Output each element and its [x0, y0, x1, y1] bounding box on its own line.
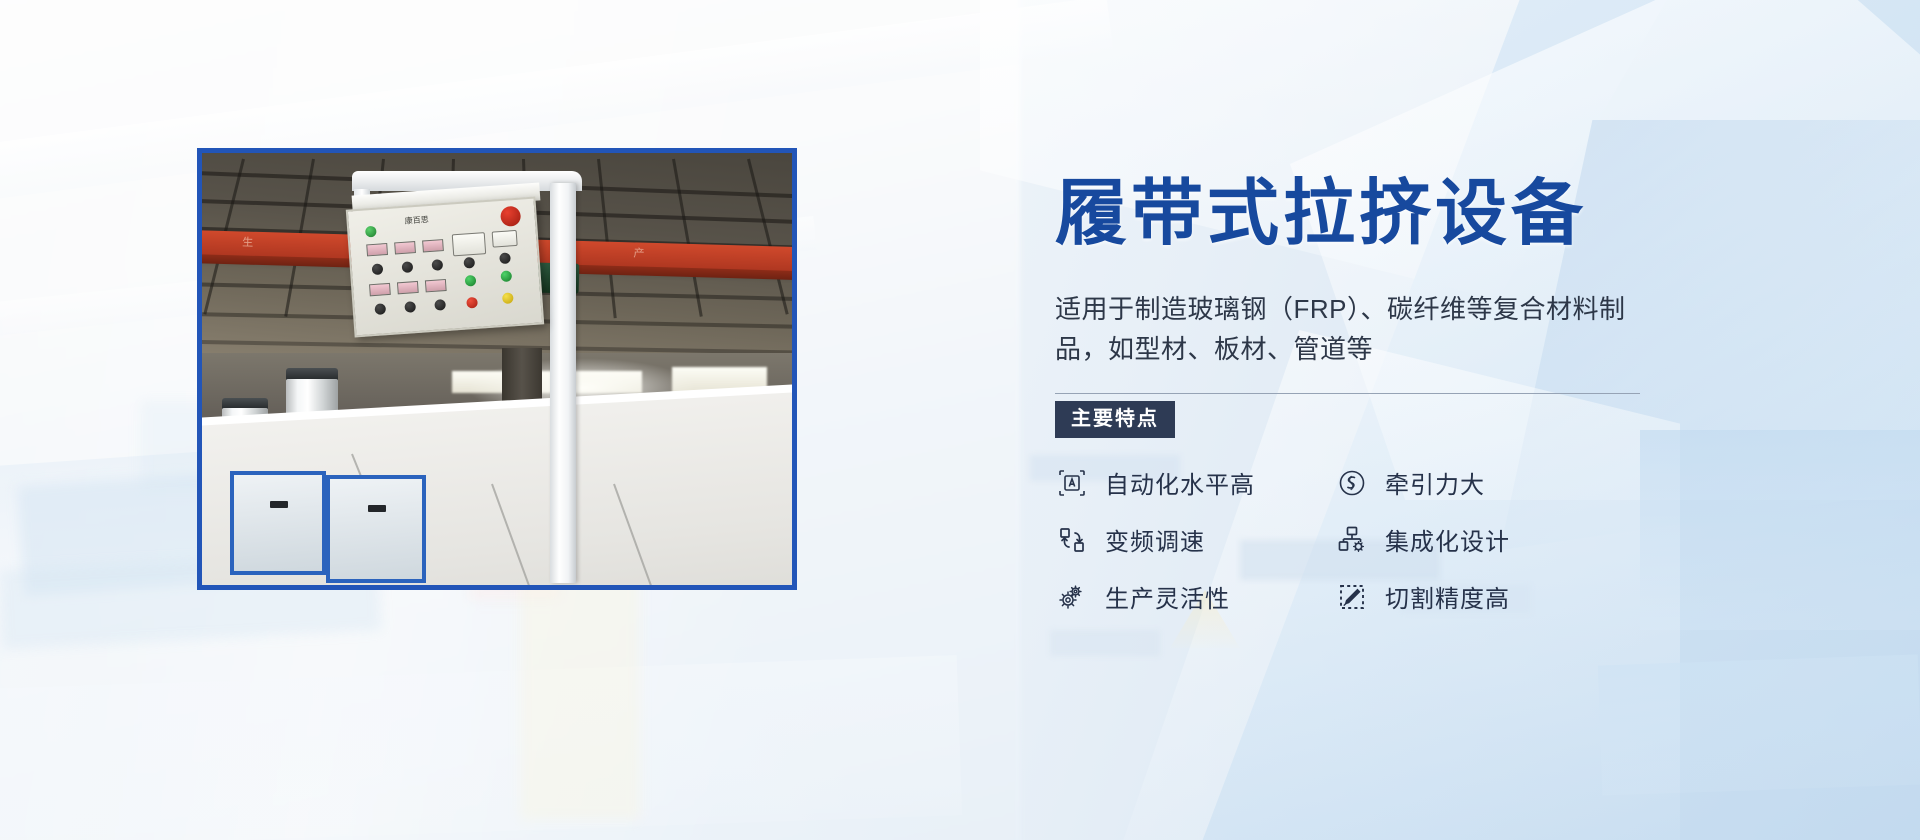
- integrated-design-nodes-icon: [1335, 523, 1369, 557]
- banner-content: 履带式拉挤设备 适用于制造玻璃钢（FRP）、碳纤维等复合材料制品，如型材、板材、…: [1055, 150, 1655, 614]
- photo-digital-meter: [394, 241, 416, 254]
- background-glass-pane-6: [1598, 654, 1920, 795]
- photo-analog-gauge: [452, 232, 486, 256]
- frequency-nodes-icon: [1055, 523, 1089, 557]
- background-smudge-3: [1050, 630, 1160, 656]
- feature-label: 变频调速: [1105, 522, 1205, 557]
- photo-knob: [404, 301, 416, 313]
- feature-item: 自动化水平高: [1055, 465, 1335, 500]
- feature-label: 自动化水平高: [1105, 465, 1255, 500]
- background-glass-pane-5: [1640, 430, 1920, 630]
- traction-waves-circle-icon: [1335, 466, 1369, 500]
- dashed-pencil-precision-icon: [1335, 580, 1369, 614]
- photo-knob: [372, 263, 384, 275]
- photo-knob: [463, 257, 475, 269]
- background-ghost-machine-4: [520, 560, 640, 820]
- photo-digital-meter: [366, 243, 388, 256]
- feature-label: 生产灵活性: [1105, 579, 1230, 614]
- photo-analog-gauge: [492, 230, 518, 248]
- photo-control-panel-brand: 康百思: [404, 212, 459, 228]
- photo-front-cabinet: [230, 471, 326, 575]
- feature-item: 集成化设计: [1335, 522, 1615, 557]
- photo-cabinet-handle: [270, 501, 288, 508]
- feature-list: 自动化水平高 牵引力大: [1055, 465, 1655, 614]
- photo-indicator-lamp: [365, 226, 377, 238]
- page-title: 履带式拉挤设备: [1055, 178, 1655, 250]
- feature-item: 变频调速: [1055, 522, 1335, 557]
- background-beam-4: [0, 655, 962, 840]
- letter-a-in-frame-icon: [1055, 466, 1089, 500]
- photo-gantry-pillar: [550, 183, 576, 583]
- photo-knob: [402, 261, 414, 273]
- photo-digital-meter: [425, 279, 447, 292]
- product-photo-card: 生 产 为 产 辉 煌: [197, 148, 797, 590]
- photo-cabinet-handle: [368, 505, 386, 512]
- product-banner: 生 产 为 产 辉 煌: [0, 0, 1920, 840]
- pultrusion-line-factory-photo: 生 产 为 产 辉 煌: [202, 153, 792, 585]
- photo-digital-meter: [369, 283, 391, 296]
- divider-line: [1055, 393, 1640, 394]
- photo-indicator-lamp: [466, 297, 478, 309]
- photo-knob: [434, 299, 446, 311]
- photo-indicator-lamp: [465, 275, 477, 287]
- photo-knob: [431, 259, 443, 271]
- status-badge: 主要特点: [1055, 401, 1175, 438]
- photo-control-panel: 康百思: [346, 197, 544, 338]
- feature-item: 牵引力大: [1335, 465, 1615, 500]
- feature-label: 牵引力大: [1385, 465, 1485, 500]
- photo-digital-meter: [397, 281, 419, 294]
- photo-knob: [374, 303, 386, 315]
- gears-icon: [1055, 580, 1089, 614]
- features-header: 主要特点: [1055, 393, 1655, 435]
- feature-item: 切割精度高: [1335, 579, 1615, 614]
- feature-item: 生产灵活性: [1055, 579, 1335, 614]
- photo-front-cabinet: [326, 475, 426, 583]
- photo-knob: [499, 252, 511, 264]
- feature-label: 集成化设计: [1385, 522, 1510, 557]
- photo-digital-meter: [422, 239, 444, 252]
- photo-indicator-lamp: [502, 292, 514, 304]
- photo-indicator-lamp: [500, 270, 512, 282]
- product-description: 适用于制造玻璃钢（FRP）、碳纤维等复合材料制品，如型材、板材、管道等: [1055, 290, 1655, 369]
- photo-emergency-stop: [500, 206, 521, 227]
- feature-label: 切割精度高: [1385, 579, 1510, 614]
